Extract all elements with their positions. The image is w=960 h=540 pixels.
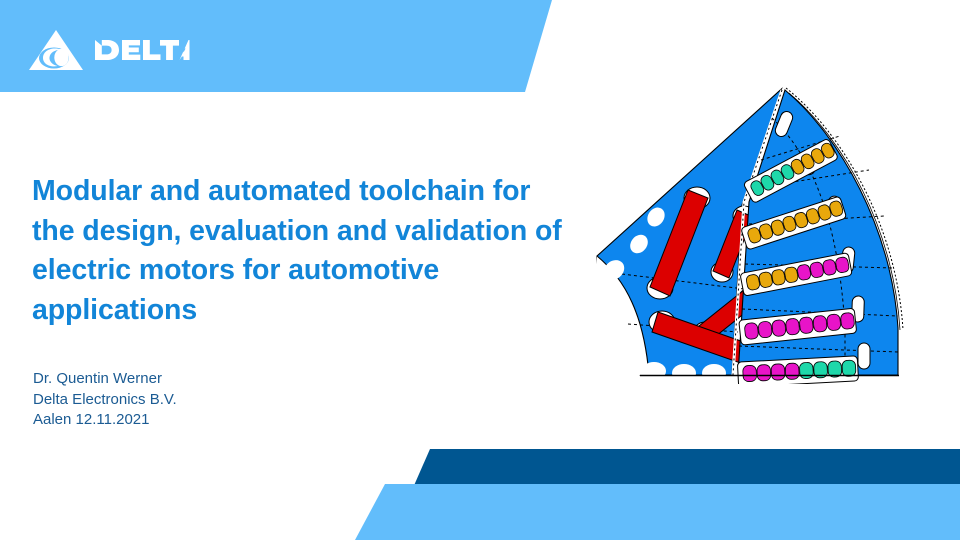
decoration-light-parallelogram (355, 484, 960, 540)
page-title: Modular and automated toolchain for the … (32, 172, 572, 330)
author-block: Dr. Quentin Werner Delta Electronics B.V… (33, 369, 177, 431)
delta-logo (28, 28, 191, 72)
title-slide: Modular and automated toolchain for the … (0, 0, 960, 540)
decoration-dark-parallelogram (405, 449, 960, 506)
delta-wordmark (93, 36, 191, 64)
author-organization: Delta Electronics B.V. (33, 390, 177, 411)
author-name: Dr. Quentin Werner (33, 369, 177, 390)
electric-motor-cross-section-figure (592, 84, 960, 384)
delta-triangle-logo-icon (28, 29, 84, 71)
author-location-date: Aalen 12.11.2021 (33, 410, 177, 431)
